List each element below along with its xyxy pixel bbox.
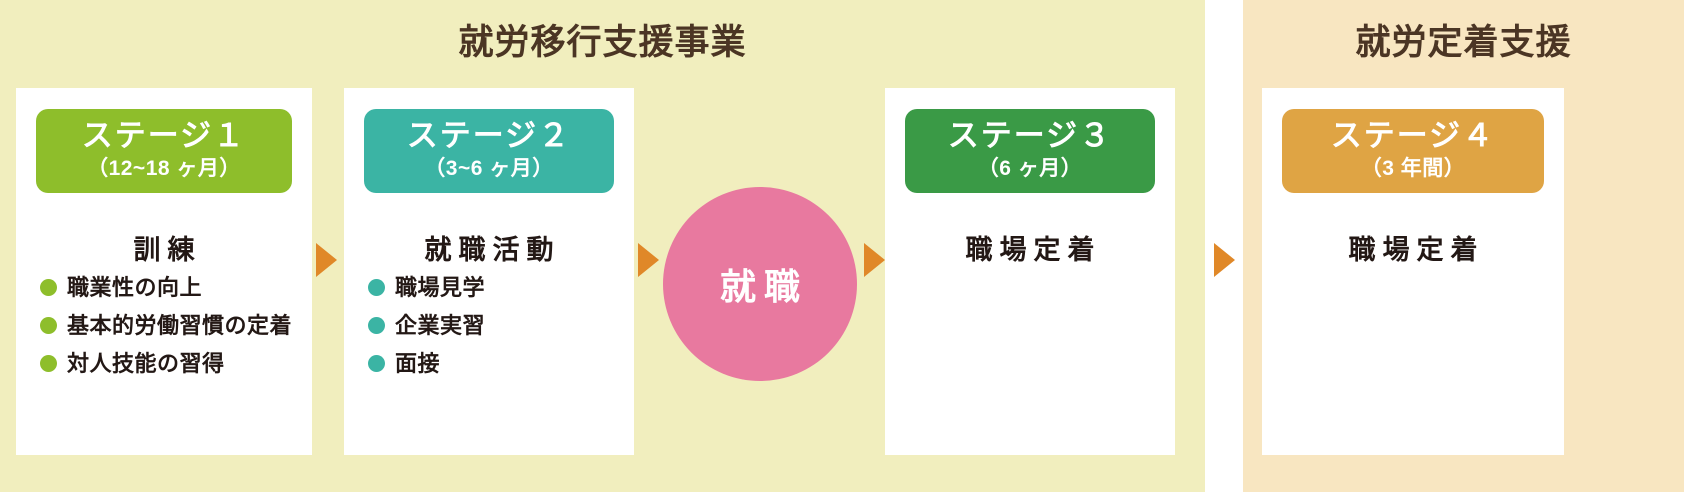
triangle-right-icon xyxy=(316,243,337,277)
stage-badge-title-1: ステージ１ xyxy=(36,118,292,154)
section-heading-transition: 就労移行支援事業 xyxy=(0,14,1205,65)
stage-heading-2: 就職活動 xyxy=(344,228,634,267)
list-item: 面接 xyxy=(368,349,622,378)
list-item-label: 職場見学 xyxy=(395,273,485,302)
stage-bullet-list-2: 職場見学 企業実習 面接 xyxy=(368,273,622,387)
list-item: 基本的労働習慣の定着 xyxy=(40,311,300,340)
stage-badge-title-2: ステージ２ xyxy=(364,118,614,154)
list-item-label: 企業実習 xyxy=(395,311,485,340)
stage-card-1: ステージ１ （12~18 ヶ月） 訓練 職業性の向上 基本的労働習慣の定着 対人… xyxy=(16,88,312,455)
list-item-label: 職業性の向上 xyxy=(67,273,202,302)
section-heading-retention: 就労定着支援 xyxy=(1243,14,1684,65)
list-item-label: 面接 xyxy=(395,349,440,378)
stage-badge-title-3: ステージ３ xyxy=(905,118,1155,154)
bullet-dot-icon xyxy=(368,279,385,296)
list-item-label: 対人技能の習得 xyxy=(67,349,225,378)
employment-label: 就職 xyxy=(712,258,808,310)
list-item: 企業実習 xyxy=(368,311,622,340)
stage-bullet-list-1: 職業性の向上 基本的労働習慣の定着 対人技能の習得 xyxy=(40,273,300,387)
stage-badge-duration-2: （3~6 ヶ月） xyxy=(364,155,614,182)
list-item: 職場見学 xyxy=(368,273,622,302)
diagram-canvas: 就労移行支援事業 就労定着支援 ステージ１ （12~18 ヶ月） 訓練 職業性の… xyxy=(0,0,1684,492)
bullet-dot-icon xyxy=(40,355,57,372)
stage-badge-duration-3: （6 ヶ月） xyxy=(905,155,1155,182)
list-item-label: 基本的労働習慣の定着 xyxy=(67,311,292,340)
stage-badge-duration-1: （12~18 ヶ月） xyxy=(36,155,292,182)
triangle-right-icon xyxy=(864,243,885,277)
stage-heading-3: 職場定着 xyxy=(885,228,1175,267)
list-item: 対人技能の習得 xyxy=(40,349,300,378)
list-item: 職業性の向上 xyxy=(40,273,300,302)
stage-badge-title-4: ステージ４ xyxy=(1282,118,1544,154)
bullet-dot-icon xyxy=(40,279,57,296)
triangle-right-icon xyxy=(638,243,659,277)
stage-badge-duration-4: （3 年間） xyxy=(1282,155,1544,182)
stage-badge-3: ステージ３ （6 ヶ月） xyxy=(905,109,1155,193)
employment-circle: 就職 xyxy=(663,187,857,381)
stage-card-4: ステージ４ （3 年間） 職場定着 xyxy=(1262,88,1564,455)
stage-card-2: ステージ２ （3~6 ヶ月） 就職活動 職場見学 企業実習 面接 xyxy=(344,88,634,455)
stage-heading-4: 職場定着 xyxy=(1262,228,1564,267)
stage-card-3: ステージ３ （6 ヶ月） 職場定着 xyxy=(885,88,1175,455)
stage-badge-2: ステージ２ （3~6 ヶ月） xyxy=(364,109,614,193)
bullet-dot-icon xyxy=(40,317,57,334)
stage-badge-1: ステージ１ （12~18 ヶ月） xyxy=(36,109,292,193)
bullet-dot-icon xyxy=(368,355,385,372)
bullet-dot-icon xyxy=(368,317,385,334)
stage-badge-4: ステージ４ （3 年間） xyxy=(1282,109,1544,193)
triangle-right-icon xyxy=(1214,243,1235,277)
stage-heading-1: 訓練 xyxy=(16,228,312,267)
